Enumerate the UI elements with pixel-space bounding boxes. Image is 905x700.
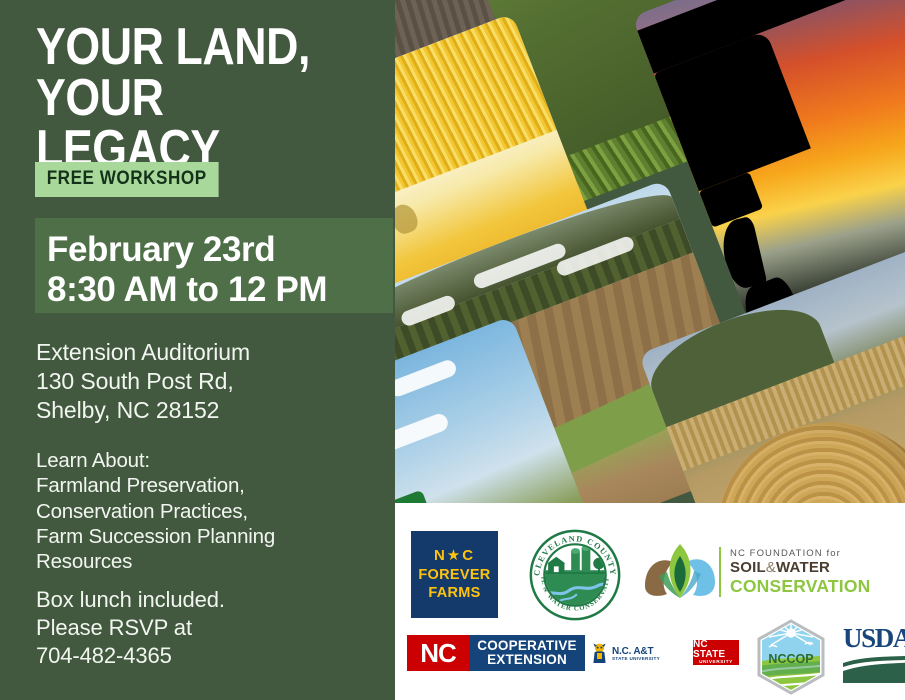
workshop-flyer: YOUR LAND, YOUR LEGACY FREE WORKSHOP Feb… (0, 0, 905, 700)
nc-cooperative-extension-logo: NC COOPERATIVE EXTENSION (407, 635, 585, 671)
nff-line1: N★C (434, 547, 475, 566)
usda-hills-icon (843, 655, 905, 683)
nccop-logo: NCCOP (755, 619, 827, 695)
nc-state-university-logo: NC STATE UNIVERSITY (693, 640, 739, 665)
cloud-shape (393, 357, 458, 398)
page-title: YOUR LAND, YOUR LEGACY (36, 22, 337, 175)
ncf-soil: SOIL (730, 559, 766, 576)
free-workshop-badge: FREE WORKSHOP (35, 162, 218, 197)
event-date: February 23rd (47, 230, 275, 270)
nc-foundation-leaf-icon (643, 542, 717, 602)
photo-collage (393, 0, 905, 512)
learn-about-list: Learn About: Farmland Preservation, Cons… (36, 448, 388, 575)
ncf-amp: & (766, 559, 776, 576)
ncsu-line1: NC STATE (693, 640, 739, 661)
ext-line1: COOPERATIVE (477, 639, 576, 653)
ncsu-line2: UNIVERSITY (699, 660, 733, 665)
divider (719, 547, 721, 597)
venue-address: Extension Auditorium 130 South Post Rd, … (36, 338, 386, 426)
ext-nc-mark: NC (407, 635, 469, 671)
ext-wordmark: COOPERATIVE EXTENSION (469, 635, 585, 671)
ncf-line2: SOIL&WATER (730, 560, 870, 577)
nc-foundation-soil-water-logo: NC FOUNDATION for SOIL&WATER CONSERVATIO… (643, 535, 893, 609)
tree-shape (393, 201, 421, 237)
nc-forever-farms-logo: N★C FOREVER FARMS (411, 531, 498, 618)
rsvp-info: Box lunch included. Please RSVP at 704-4… (36, 586, 388, 670)
ncf-water: WATER (776, 559, 830, 576)
date-time-block: February 23rd 8:30 AM to 12 PM (35, 218, 393, 313)
farmer-arm-silhouette (717, 216, 768, 292)
aggie-bulldog-icon (591, 643, 608, 665)
at-line2: STATE UNIVERSITY (612, 657, 660, 662)
nff-line3: FARMS (428, 584, 480, 602)
cleveland-county-soil-water-logo: CLEVELAND COUNTY SOIL & WATER CONSERVATI… (527, 527, 623, 623)
nccop-wordmark: NCCOP (768, 652, 813, 666)
nff-line2: FOREVER (418, 566, 490, 584)
usda-wordmark: USDA (843, 625, 905, 652)
ncf-line3: CONSERVATION (730, 577, 870, 596)
sponsor-logo-panel: N★C FOREVER FARMS (395, 503, 905, 700)
info-panel: YOUR LAND, YOUR LEGACY FREE WORKSHOP Feb… (0, 0, 395, 700)
cloud-shape (393, 411, 450, 460)
ext-line2: EXTENSION (487, 653, 567, 667)
usda-logo: USDA (843, 625, 905, 687)
nc-at-state-university-logo: N.C. A&T STATE UNIVERSITY (591, 641, 683, 667)
event-time: 8:30 AM to 12 PM (47, 270, 327, 310)
